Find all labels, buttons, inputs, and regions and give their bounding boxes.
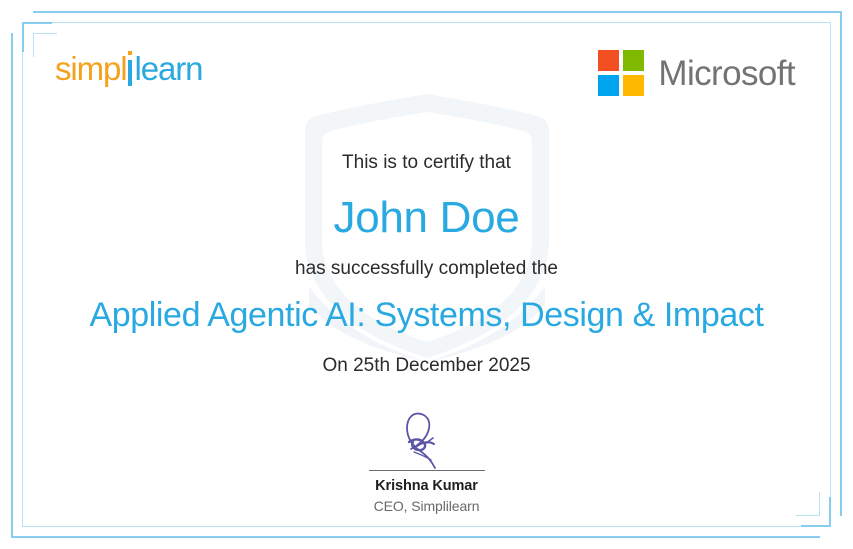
completion-date: On 25th December 2025 xyxy=(0,355,853,377)
microsoft-yellow-square-icon xyxy=(623,75,644,96)
simplilearn-logo-dot-icon xyxy=(128,51,132,55)
simplilearn-logo: simpl learn xyxy=(55,52,202,85)
course-title: Applied Agentic AI: Systems, Design & Im… xyxy=(0,296,853,335)
completed-line: has successfully completed the xyxy=(0,258,853,280)
signatory-title: CEO, Simplilearn xyxy=(312,496,542,517)
microsoft-wordmark: Microsoft xyxy=(658,56,795,91)
signatory-name: Krishna Kumar xyxy=(312,477,542,496)
border-step-bottom-right-outer xyxy=(801,497,831,527)
signature-block: Krishna Kumar CEO, Simplilearn xyxy=(312,408,542,517)
recipient-name: John Doe xyxy=(0,193,853,243)
certificate-canvas: simpl learn Microsoft This is to certify… xyxy=(0,0,853,549)
certificate-header: simpl learn Microsoft xyxy=(0,0,853,120)
microsoft-green-square-icon xyxy=(623,50,644,71)
microsoft-red-square-icon xyxy=(598,50,619,71)
simplilearn-logo-primary: simpl xyxy=(55,52,127,85)
signature-rule xyxy=(369,470,485,471)
border-notch-bottom-right xyxy=(820,516,853,549)
certify-line: This is to certify that xyxy=(0,152,853,174)
border-step-bottom-right-inner xyxy=(796,492,820,516)
signature-mark-icon xyxy=(312,408,542,470)
simplilearn-logo-bar-icon xyxy=(128,60,132,86)
microsoft-blue-square-icon xyxy=(598,75,619,96)
microsoft-logo: Microsoft xyxy=(598,50,795,96)
microsoft-logo-grid-icon xyxy=(598,50,644,96)
simplilearn-logo-secondary: learn xyxy=(135,52,203,85)
